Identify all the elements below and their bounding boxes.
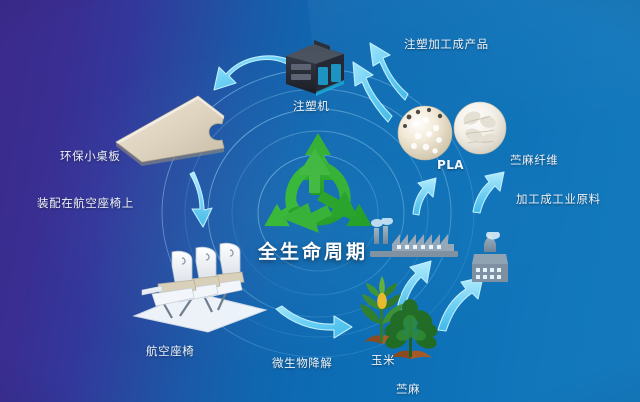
label-tray-table: 环保小桌板 (60, 148, 121, 164)
pla-pellets-icon (396, 104, 454, 162)
label-injection-molding-machine: 注塑机 (293, 98, 329, 114)
arrow-tray-to-seat (190, 172, 212, 227)
arrow-fiber-to-molder (370, 43, 408, 100)
label-ramie-fiber: 苎麻纤维 (510, 152, 558, 168)
label-corn: 玉米 (371, 352, 395, 368)
label-ramie: 苎麻 (396, 381, 420, 397)
label-assemble-on-seat: 装配在航空座椅上 (37, 195, 134, 211)
factory-icon (366, 218, 462, 266)
label-microbial-degradation: 微生物降解 (272, 355, 333, 371)
arrow-factory-to-pla (413, 178, 436, 215)
label-aircraft-seat: 航空座椅 (146, 343, 194, 359)
label-industrial-raw-material: 加工成工业原料 (516, 191, 601, 207)
ramie-fiber-icon (452, 100, 508, 156)
infographic-canvas: 全生命周期 (0, 0, 640, 402)
label-injection-product: 注塑加工成产品 (404, 36, 489, 52)
injection-molding-machine-icon (278, 36, 350, 98)
arrow-factory-to-fiber (473, 172, 504, 213)
aircraft-seat-icon (128, 228, 272, 336)
processing-plant-icon (462, 232, 518, 288)
arrow-seat-to-degrade (276, 306, 352, 338)
label-pla: PLA (437, 158, 464, 172)
